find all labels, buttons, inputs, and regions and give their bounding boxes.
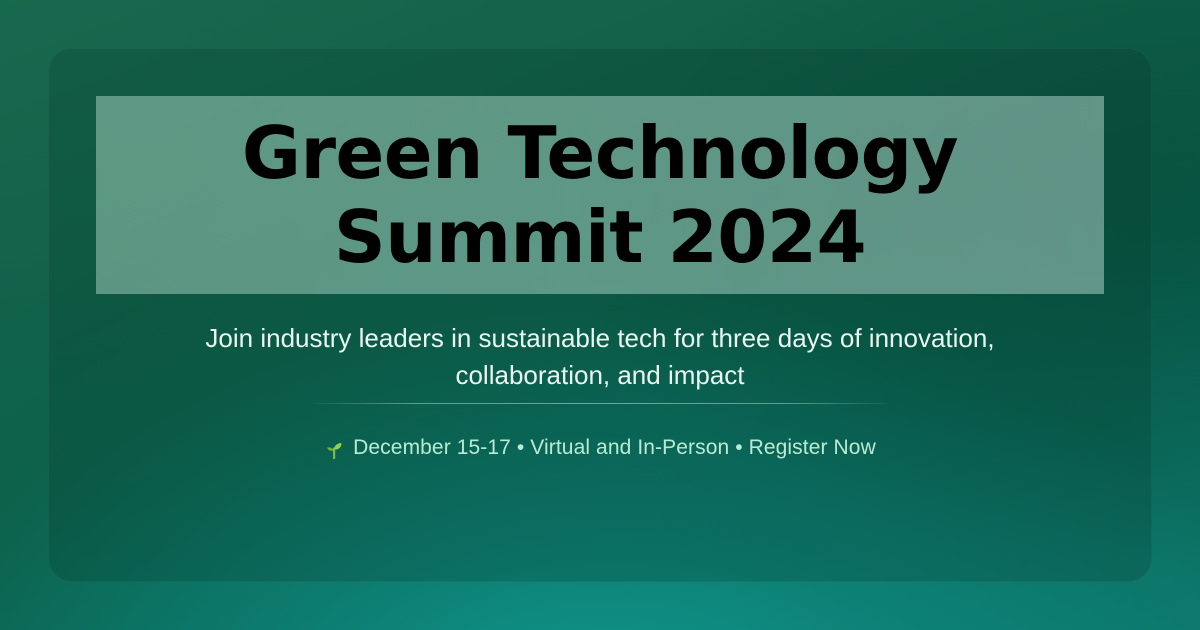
page-title: Green Technology Summit 2024 [218,111,982,279]
event-details-text: December 15-17 • Virtual and In-Person •… [353,434,876,462]
poster-canvas: Green Technology Summit 2024 Join indust… [0,0,1200,630]
divider [313,403,887,404]
seedling-icon [324,437,344,459]
poster-card: Green Technology Summit 2024 Join indust… [48,48,1152,582]
title-banner: Green Technology Summit 2024 [96,96,1104,294]
event-details: December 15-17 • Virtual and In-Person •… [96,434,1104,462]
subtitle-text: Join industry leaders in sustainable tec… [96,320,1104,394]
